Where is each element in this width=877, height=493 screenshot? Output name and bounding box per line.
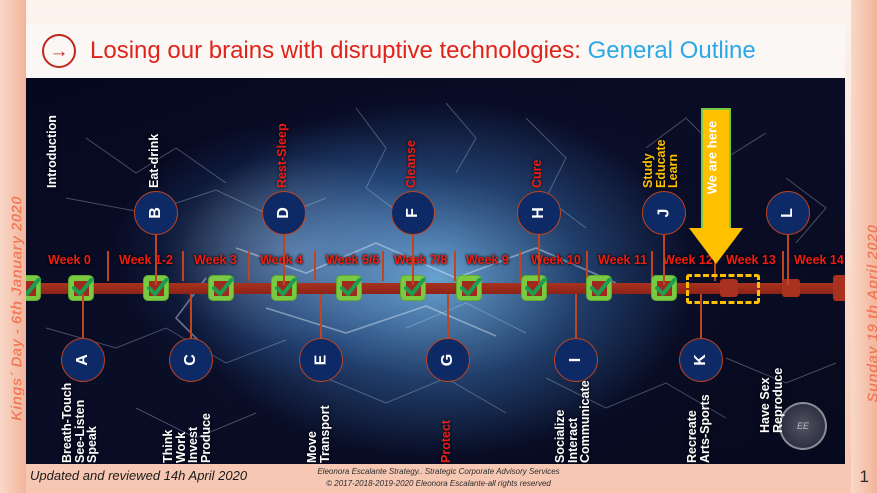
node-stem bbox=[787, 235, 789, 285]
node-stem bbox=[700, 294, 702, 339]
node-f[interactable]: F bbox=[391, 191, 435, 235]
page-title: Losing our brains with disruptive techno… bbox=[90, 37, 756, 65]
node-description-label: Rest-Sleep bbox=[276, 123, 289, 188]
node-description-label: Introduction bbox=[46, 115, 59, 188]
node-stem bbox=[320, 294, 322, 339]
node-stem bbox=[447, 294, 449, 339]
week-label: Week 14 bbox=[794, 253, 844, 267]
title-main-text: Losing our brains with disruptive techno… bbox=[90, 37, 581, 64]
node-description-label: Eat-drink bbox=[148, 134, 161, 188]
node-g[interactable]: G bbox=[426, 338, 470, 382]
week-tick bbox=[382, 251, 384, 281]
week-label: Week 3 bbox=[194, 253, 237, 267]
node-description-label: Cleanse bbox=[405, 140, 418, 188]
checkmark-icon bbox=[521, 275, 547, 301]
logo-watermark: EE bbox=[779, 402, 827, 450]
node-d[interactable]: D bbox=[262, 191, 306, 235]
node-stem bbox=[155, 235, 157, 285]
arrow-right-circle-icon: → bbox=[42, 34, 76, 68]
week-tick bbox=[182, 251, 184, 281]
footer-copyright-line1: Eleonora Escalante Strategy.. Strategic … bbox=[26, 466, 851, 478]
week-label: Week 9 bbox=[466, 253, 509, 267]
week-tick bbox=[107, 251, 109, 281]
week-tick bbox=[782, 251, 784, 281]
week-tick bbox=[248, 251, 250, 281]
checkmark-icon bbox=[586, 275, 612, 301]
right-date-band: Sunday 19 th April 2020 bbox=[851, 0, 877, 493]
timeline-marker bbox=[833, 275, 845, 301]
node-k[interactable]: K bbox=[679, 338, 723, 382]
node-description-label: ThinkWorkInvestProduce bbox=[162, 413, 212, 463]
node-description-label: Breath-TouchSee-ListenSpeak bbox=[61, 383, 99, 463]
slide-root: Kings´ Day - 6th January 2020 Sunday 19 … bbox=[0, 0, 877, 493]
footer-copyright: Eleonora Escalante Strategy.. Strategic … bbox=[26, 466, 851, 489]
checkmark-icon bbox=[336, 275, 362, 301]
node-stem bbox=[663, 235, 665, 285]
checkmark-icon bbox=[68, 275, 94, 301]
week-label: Week 4 bbox=[260, 253, 303, 267]
timeline-marker bbox=[782, 279, 800, 297]
week-label: Week 0 bbox=[48, 253, 91, 267]
node-b[interactable]: B bbox=[134, 191, 178, 235]
week-tick bbox=[314, 251, 316, 281]
node-description-label: RecreateArts-Sports bbox=[686, 394, 711, 463]
left-date-label: Kings´ Day - 6th January 2020 bbox=[9, 184, 26, 434]
current-week-highlight-box bbox=[686, 274, 760, 304]
title-accent-text: General Outline bbox=[588, 37, 756, 64]
node-j[interactable]: J bbox=[642, 191, 686, 235]
node-c[interactable]: C bbox=[169, 338, 213, 382]
node-stem bbox=[538, 235, 540, 285]
node-stem bbox=[82, 294, 84, 339]
node-description-label: SocializeInteractCommunicate bbox=[554, 380, 592, 463]
footer-copyright-line2: © 2017-2018-2019-2020 Eleonora Escalante… bbox=[26, 478, 851, 490]
brain-timeline-canvas: Week 0Week 1-2Week 3Week 4Week 5/6Week 7… bbox=[26, 78, 845, 464]
node-stem bbox=[190, 294, 192, 339]
node-e[interactable]: E bbox=[299, 338, 343, 382]
node-h[interactable]: H bbox=[517, 191, 561, 235]
checkmark-icon bbox=[208, 275, 234, 301]
week-label: Week 7/8 bbox=[394, 253, 447, 267]
node-description-label: Cure bbox=[531, 160, 544, 188]
slide-footer: Updated and reviewed 14h April 2020 Eleo… bbox=[26, 464, 851, 493]
node-i[interactable]: I bbox=[554, 338, 598, 382]
week-label: Week 5/6 bbox=[326, 253, 379, 267]
week-label: Week 11 bbox=[598, 253, 647, 267]
checkmark-icon bbox=[456, 275, 482, 301]
right-date-label: Sunday 19 th April 2020 bbox=[865, 189, 877, 439]
we-are-here-label: We are here bbox=[705, 103, 720, 213]
arrow-head bbox=[689, 228, 743, 264]
node-description-label: MoveTransport bbox=[306, 405, 331, 463]
node-description-label: StudyEducateLearn bbox=[642, 139, 680, 188]
node-stem bbox=[412, 235, 414, 285]
week-label: Week 1-2 bbox=[119, 253, 173, 267]
node-l[interactable]: L bbox=[766, 191, 810, 235]
node-a[interactable]: A bbox=[61, 338, 105, 382]
checkmark-icon bbox=[26, 275, 41, 301]
watermark-text: EE bbox=[797, 421, 809, 431]
node-description-label: Protect bbox=[440, 420, 453, 463]
node-stem bbox=[575, 294, 577, 339]
left-date-band: Kings´ Day - 6th January 2020 bbox=[0, 0, 26, 493]
node-stem bbox=[283, 235, 285, 285]
slide-header: → Losing our brains with disruptive tech… bbox=[26, 24, 845, 78]
page-number: 1 bbox=[860, 467, 869, 487]
